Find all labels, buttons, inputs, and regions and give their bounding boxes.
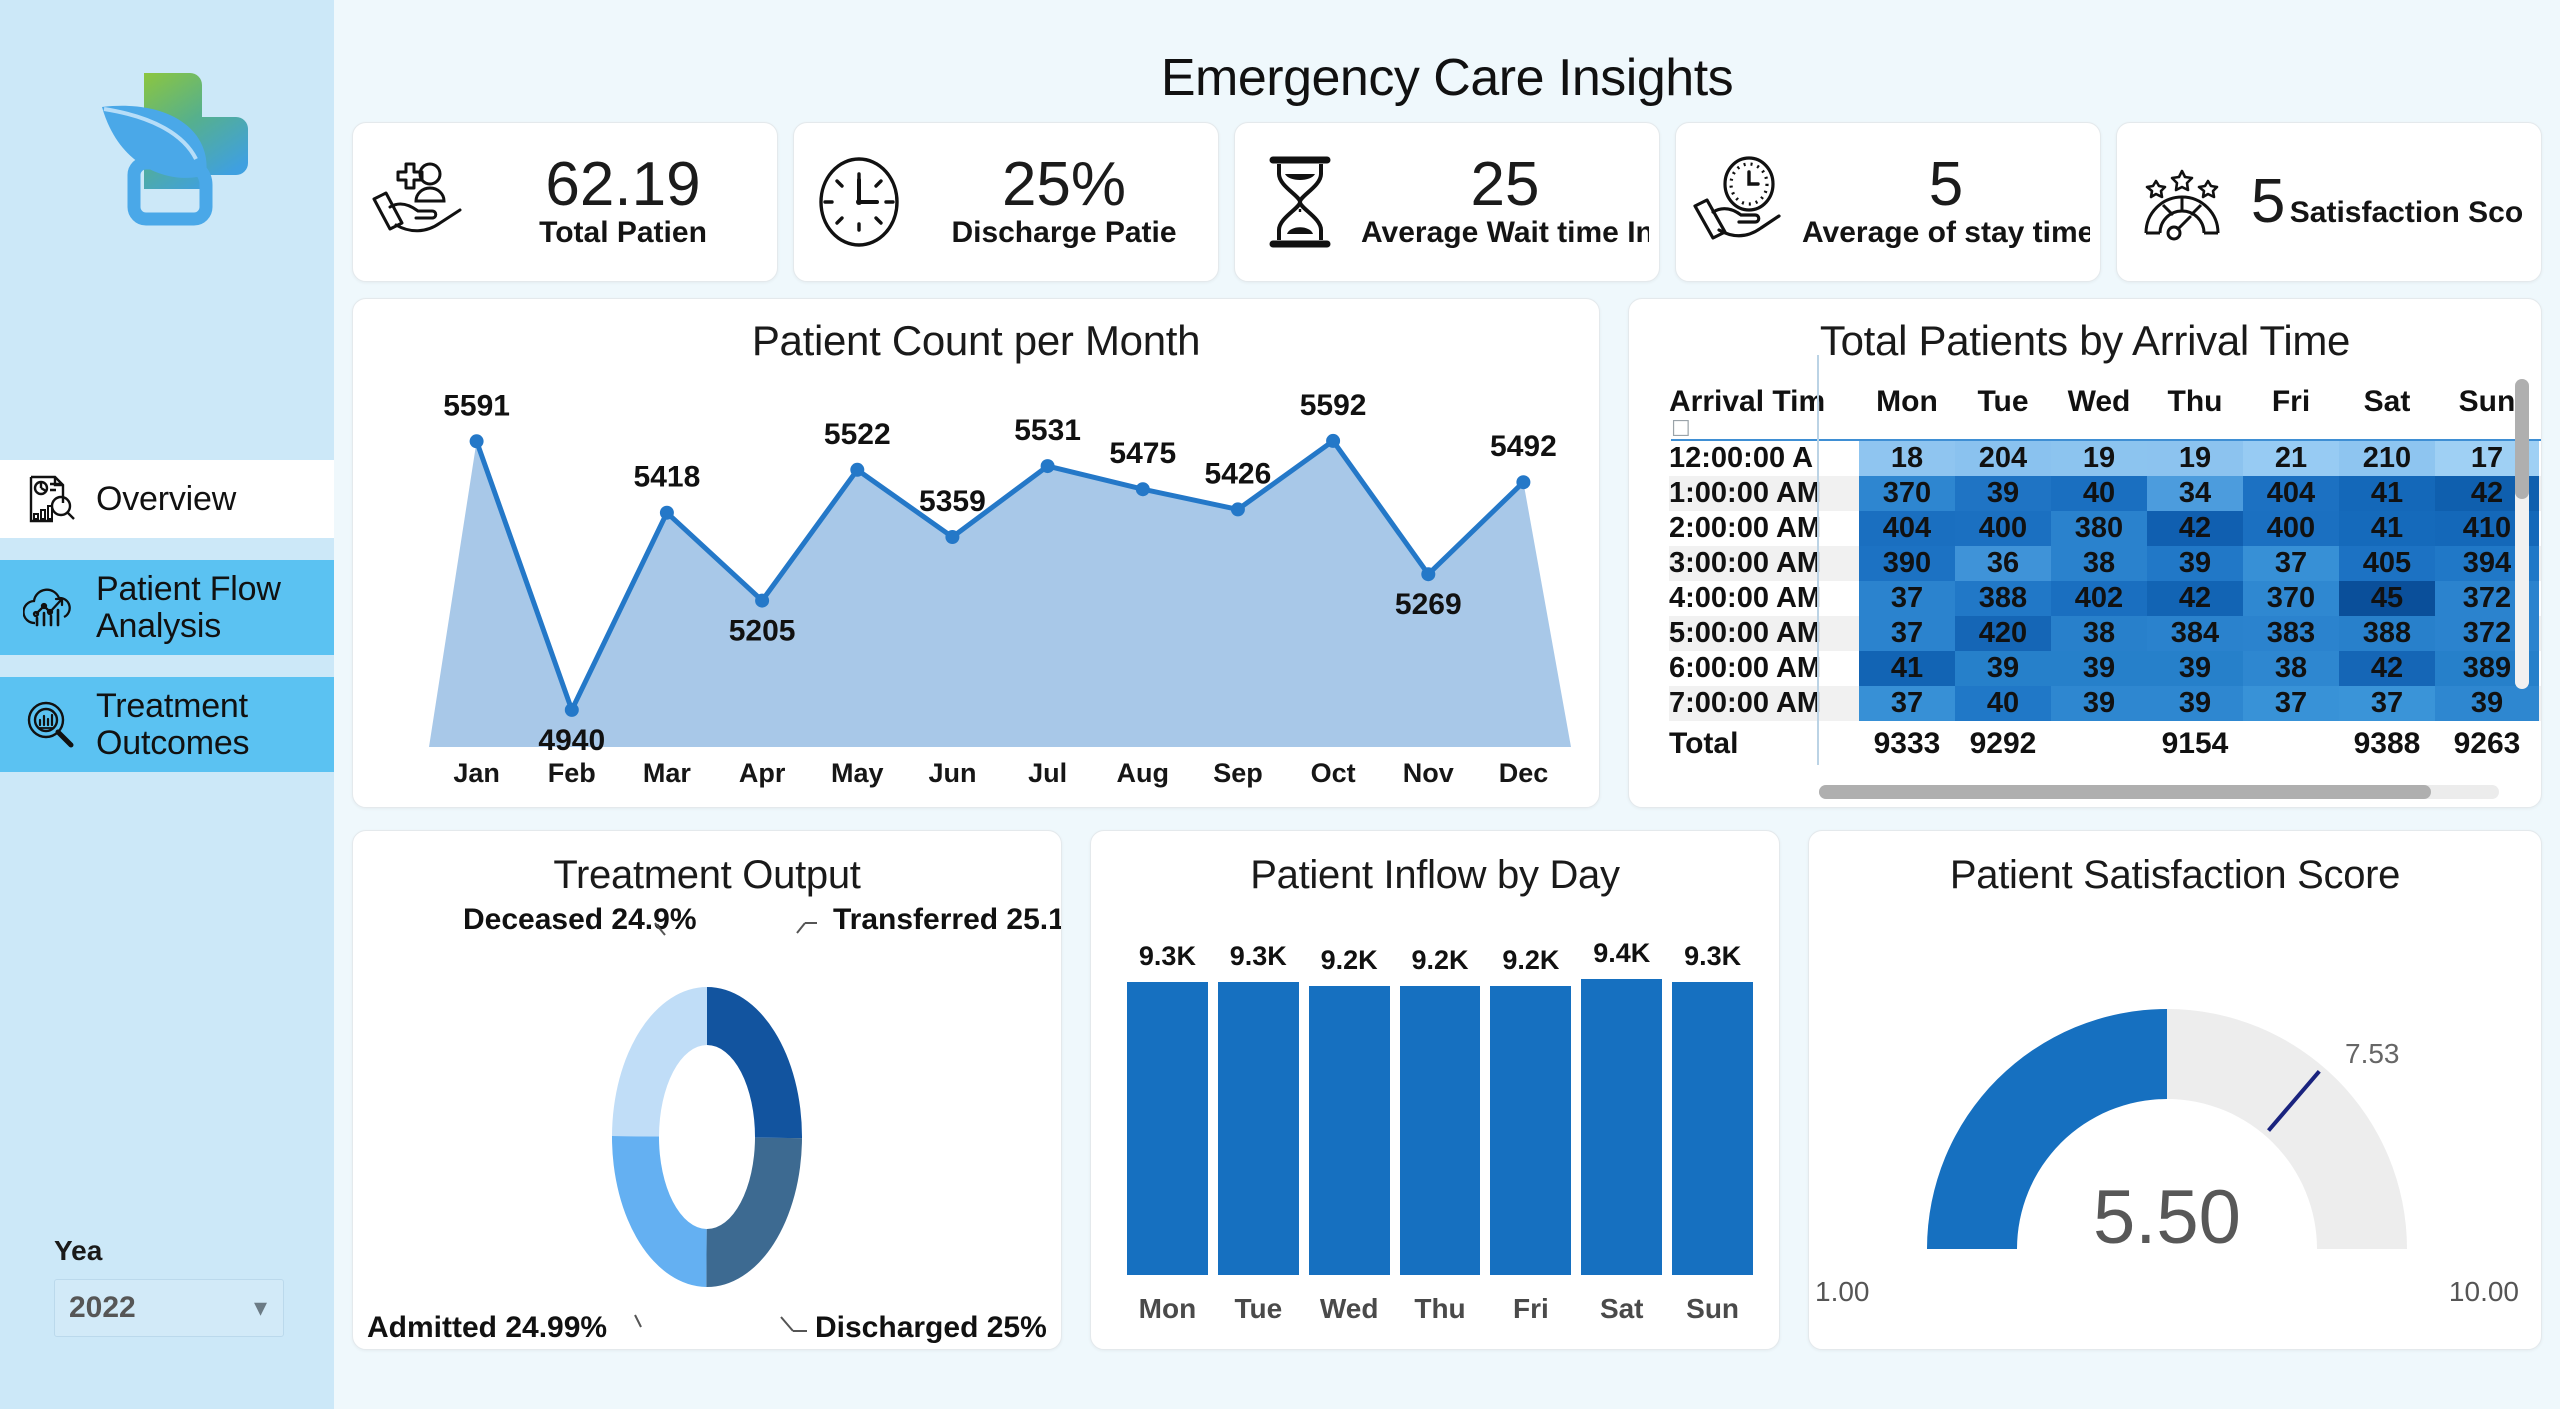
svg-text:4940: 4940 — [538, 724, 605, 757]
matrix-cell[interactable]: 19 — [2051, 441, 2147, 476]
matrix-cell[interactable]: 388 — [2339, 616, 2435, 651]
matrix-cell[interactable]: 390 — [1859, 546, 1955, 581]
sidebar-item-label: Patient Flow Analysis — [96, 571, 281, 644]
medical-cross-leaf-icon — [62, 55, 272, 255]
arrival-time-matrix[interactable]: Arrival Tim ☐MonTueWedThuFriSatSunT 12:0… — [1669, 385, 2541, 807]
matrix-col-header[interactable]: Arrival Tim ☐ — [1669, 385, 1859, 441]
kpi-label: Average of stay time In Hours — [1802, 216, 2090, 249]
matrix-total-row: Total93339292915493889263 — [1669, 721, 2541, 767]
matrix-cell[interactable]: 383 — [2243, 616, 2339, 651]
matrix-cell[interactable]: 40 — [2051, 476, 2147, 511]
svg-text:5531: 5531 — [1014, 414, 1081, 447]
bar[interactable] — [1400, 986, 1481, 1275]
matrix-cell[interactable]: 39 — [2051, 686, 2147, 721]
sidebar-item-patient-flow-analysis[interactable]: Patient Flow Analysis — [0, 560, 334, 655]
x-tick-label: Fri — [1490, 1293, 1571, 1325]
matrix-row-label: 3:00:00 AM — [1669, 547, 1859, 580]
x-tick-label: Sep — [1190, 758, 1285, 789]
matrix-cell[interactable]: 42 — [2147, 581, 2243, 616]
bar[interactable] — [1490, 986, 1571, 1275]
matrix-cell[interactable]: 404 — [1859, 511, 1955, 546]
kpi-value: 5 — [1929, 154, 1963, 219]
matrix-row-label: 7:00:00 AM — [1669, 687, 1859, 720]
sidebar-item-overview[interactable]: Overview — [0, 460, 334, 538]
svg-text:5426: 5426 — [1205, 457, 1272, 490]
patient-inflow-by-day-card: Patient Inflow by Day 9.3K 9.3K 9.2K 9.2… — [1090, 830, 1780, 1350]
matrix-cell[interactable]: 210 — [2339, 441, 2435, 476]
matrix-total-cell: 9154 — [2147, 727, 2243, 761]
svg-text:5269: 5269 — [1395, 588, 1462, 621]
table-row[interactable]: 12:00:00 A1820419192121017 — [1669, 441, 2541, 476]
matrix-cell[interactable]: 38 — [2051, 546, 2147, 581]
matrix-cell[interactable]: 370 — [1859, 476, 1955, 511]
bar-chart[interactable]: 9.3K 9.3K 9.2K 9.2K 9.2K 9.4K 9.3K MonTu… — [1127, 927, 1753, 1337]
gauge-max-label: 10.00 — [2449, 1276, 2519, 1307]
row-charts-bottom: Treatment Output Transferred 25.12%Disch… — [350, 830, 2544, 1350]
svg-text:5592: 5592 — [1300, 389, 1367, 422]
matrix-row-label: 5:00:00 AM — [1669, 617, 1859, 650]
bar-value-label: 9.3K — [1218, 941, 1299, 972]
line-chart-x-axis: JanFebMarAprMayJunJulAugSepOctNovDec — [429, 758, 1571, 789]
main-content: Emergency Care Insights 62.19 Tota — [334, 0, 2560, 1409]
patient-count-per-month-card: Patient Count per Month 5591494054185205… — [352, 298, 1600, 808]
svg-text:5522: 5522 — [824, 418, 891, 451]
matrix-col-header[interactable]: Thu — [2147, 385, 2243, 419]
expand-icon[interactable]: ☐ — [1669, 419, 1859, 441]
matrix-header-row: Arrival Tim ☐MonTueWedThuFriSatSunT — [1669, 385, 2541, 439]
matrix-col-header[interactable]: Wed — [2051, 385, 2147, 419]
matrix-col-header[interactable]: T — [2539, 385, 2542, 419]
matrix-cell[interactable]: 400 — [1955, 511, 2051, 546]
bar-column[interactable]: 9.3K — [1218, 973, 1299, 1275]
bar-value-label: 9.2K — [1400, 945, 1481, 976]
chevron-down-icon[interactable]: ▾ — [254, 1293, 267, 1323]
matrix-total-cell: 9263 — [2435, 727, 2539, 761]
gauge-value: 5.50 — [2093, 1175, 2241, 1260]
x-tick-label: Sun — [1672, 1293, 1753, 1325]
sidebar: Overview Patient Flow Analysis — [0, 0, 334, 1409]
x-tick-label: Dec — [1476, 758, 1571, 789]
matrix-cell[interactable]: 19 — [2147, 441, 2243, 476]
matrix-total-cell: 9333 — [1859, 727, 1955, 761]
x-tick-label: Apr — [715, 758, 810, 789]
matrix-cell[interactable]: 42 — [2339, 651, 2435, 686]
hourglass-icon — [1245, 147, 1355, 257]
card-title: Treatment Output — [353, 831, 1061, 898]
matrix-cell[interactable]: 39 — [2147, 686, 2243, 721]
matrix-cell[interactable]: 204 — [1955, 441, 2051, 476]
svg-text:5475: 5475 — [1109, 437, 1176, 470]
dashboard-root: Overview Patient Flow Analysis — [0, 0, 2560, 1409]
table-row[interactable]: 2:00:00 AM4044003804240041410 — [1669, 511, 2541, 546]
x-tick-label: Sat — [1581, 1293, 1662, 1325]
matrix-horizontal-scrollbar[interactable] — [1819, 785, 2499, 799]
matrix-row-label: 12:00:00 A — [1669, 442, 1859, 475]
year-slicer-value: 2022 — [69, 1291, 136, 1325]
year-slicer-dropdown[interactable]: 2022 ▾ — [54, 1279, 284, 1337]
clock-icon — [804, 147, 914, 257]
matrix-col-header[interactable]: Tue — [1955, 385, 2051, 419]
x-tick-label: Mon — [1127, 1293, 1208, 1325]
bar[interactable] — [1127, 982, 1208, 1275]
matrix-cell[interactable]: 18 — [1859, 441, 1955, 476]
kpi-label: Average Wait time In Min — [1361, 216, 1649, 249]
bar-value-label: 9.4K — [1581, 938, 1662, 969]
matrix-cell[interactable]: 405 — [2339, 546, 2435, 581]
x-tick-label: Aug — [1095, 758, 1190, 789]
sidebar-item-label: Treatment Outcomes — [96, 688, 249, 761]
x-tick-label: Tue — [1218, 1293, 1299, 1325]
x-tick-label: Jun — [905, 758, 1000, 789]
kpi-label: Discharge Patie — [951, 216, 1176, 249]
line-chart-svg: 5591494054185205552253595531547554265592… — [353, 377, 1599, 809]
matrix-cell[interactable]: 384 — [2147, 616, 2243, 651]
card-title: Patient Satisfaction Score — [1809, 831, 2541, 898]
app-logo — [0, 0, 334, 310]
flow-analytics-icon — [22, 580, 78, 636]
svg-text:5418: 5418 — [634, 461, 701, 494]
bar-value-label: 9.3K — [1672, 941, 1753, 972]
matrix-cell[interactable]: 37 — [1859, 616, 1955, 651]
x-tick-label: Thu — [1400, 1293, 1481, 1325]
kpi-card-satisfaction-score[interactable]: 5 Satisfaction Sco — [2116, 122, 2542, 282]
kpi-value: 62.19 — [545, 154, 700, 219]
matrix-cell[interactable]: 38 — [2243, 651, 2339, 686]
matrix-cell[interactable]: 41 — [2339, 476, 2435, 511]
bar-value-label: 9.2K — [1490, 945, 1571, 976]
matrix-cell[interactable]: 37 — [2339, 686, 2435, 721]
bar-column[interactable]: 9.3K — [1127, 973, 1208, 1275]
x-tick-label: Mar — [619, 758, 714, 789]
bar-column[interactable]: 9.2K — [1400, 973, 1481, 1275]
bar[interactable] — [1218, 982, 1299, 1275]
treatment-output-card: Treatment Output Transferred 25.12%Disch… — [352, 830, 1062, 1350]
matrix-row-label: 4:00:00 AM — [1669, 582, 1859, 615]
matrix-body[interactable]: 12:00:00 A1820419192121017 1:00:00 AM370… — [1669, 441, 2541, 721]
matrix-cell[interactable]: 34 — [2147, 476, 2243, 511]
donut-label: Transferred 25.12% — [833, 907, 1061, 936]
matrix-cell[interactable]: 39 — [2147, 546, 2243, 581]
matrix-cell[interactable]: 420 — [1955, 616, 2051, 651]
matrix-cell[interactable]: 400 — [2243, 511, 2339, 546]
sidebar-item-treatment-outcomes[interactable]: Treatment Outcomes — [0, 677, 334, 772]
matrix-cell[interactable]: 39 — [2051, 651, 2147, 686]
matrix-cell[interactable]: 37 — [1859, 581, 1955, 616]
bar[interactable] — [1581, 979, 1662, 1275]
bar-chart-bars: 9.3K 9.3K 9.2K 9.2K 9.2K 9.4K 9.3K — [1127, 973, 1753, 1275]
matrix-cell[interactable]: 380 — [2051, 511, 2147, 546]
kpi-label: Total Patien — [539, 216, 707, 249]
matrix-cell[interactable]: 388 — [1955, 581, 2051, 616]
matrix-cell[interactable]: 36 — [1955, 546, 2051, 581]
matrix-cell[interactable]: 37 — [1859, 686, 1955, 721]
kpi-value: 25% — [1002, 154, 1126, 219]
year-slicer: Yea 2022 ▾ — [54, 1235, 284, 1337]
donut-label: Admitted 24.99% — [367, 1311, 607, 1344]
table-row[interactable]: 7:00:00 AM37403939373739 — [1669, 686, 2541, 721]
matrix-row-label: 6:00:00 AM — [1669, 652, 1859, 685]
satisfaction-gauge[interactable]: 7.535.501.0010.00 — [1809, 909, 2525, 1329]
matrix-cell[interactable]: 39 — [2147, 651, 2243, 686]
x-tick-label: Wed — [1309, 1293, 1390, 1325]
page-title: Emergency Care Insights — [350, 0, 2544, 122]
matrix-cell[interactable]: 37 — [2243, 546, 2339, 581]
card-title: Patient Count per Month — [353, 299, 1599, 365]
matrix-row-label: 2:00:00 AM — [1669, 512, 1859, 545]
matrix-cell[interactable]: 37 — [2243, 686, 2339, 721]
x-tick-label: Oct — [1286, 758, 1381, 789]
year-slicer-label: Yea — [54, 1235, 284, 1267]
matrix-cell[interactable]: 39 — [1955, 476, 2051, 511]
matrix-cell[interactable]: 41 — [2339, 511, 2435, 546]
kpi-value: 25 — [1471, 154, 1540, 219]
bar[interactable] — [1672, 982, 1753, 1275]
matrix-cell[interactable]: 45 — [2339, 581, 2435, 616]
report-search-icon — [22, 471, 78, 527]
matrix-col-header[interactable]: Mon — [1859, 385, 1955, 419]
svg-text:5359: 5359 — [919, 485, 986, 518]
matrix-total-cell: 9292 — [1955, 727, 2051, 761]
table-row[interactable]: 4:00:00 AM373884024237045372 — [1669, 581, 2541, 616]
sidebar-nav: Overview Patient Flow Analysis — [0, 460, 334, 772]
treatment-output-donut[interactable]: Transferred 25.12%Discharged 25%Admitted… — [353, 907, 1061, 1347]
matrix-cell[interactable]: 39 — [2435, 686, 2539, 721]
matrix-cell[interactable]: 370 — [2243, 581, 2339, 616]
matrix-cell[interactable]: 41 — [1859, 651, 1955, 686]
matrix-cell[interactable]: 39 — [1955, 651, 2051, 686]
magnifier-chart-icon — [22, 697, 78, 753]
kpi-label: Satisfaction Sco — [2290, 196, 2523, 229]
matrix-divider — [1817, 355, 1819, 765]
matrix-cell[interactable]: 38 — [2051, 616, 2147, 651]
total-patients-by-arrival-time-card: Total Patients by Arrival Time Arrival T… — [1628, 298, 2542, 808]
kpi-value: 5 — [2251, 171, 2285, 233]
row-charts-middle: Patient Count per Month 5591494054185205… — [350, 298, 2544, 808]
matrix-cell[interactable]: 21 — [2243, 441, 2339, 476]
card-title: Total Patients by Arrival Time — [1629, 299, 2541, 365]
bar-column[interactable]: 9.2K — [1309, 973, 1390, 1275]
table-row[interactable]: 1:00:00 AM3703940344044142 — [1669, 476, 2541, 511]
kpi-row: 62.19 Total Patien 25% Discharge — [350, 122, 2544, 282]
matrix-vertical-scrollbar[interactable] — [2515, 379, 2529, 689]
bar-chart-x-axis: MonTueWedThuFriSatSun — [1127, 1293, 1753, 1325]
svg-text:5591: 5591 — [443, 389, 510, 422]
table-row[interactable]: 5:00:00 AM3742038384383388372 — [1669, 616, 2541, 651]
gauge-stars-icon — [2127, 147, 2237, 257]
matrix-cell[interactable]: 40 — [1955, 686, 2051, 721]
matrix-cell[interactable]: 404 — [2243, 476, 2339, 511]
x-tick-label: Feb — [524, 758, 619, 789]
bar[interactable] — [1309, 986, 1390, 1275]
patient-hand-icon — [363, 147, 473, 257]
matrix-row-label: 1:00:00 AM — [1669, 477, 1859, 510]
matrix-total-cell: 9388 — [2339, 727, 2435, 761]
sidebar-item-label: Overview — [96, 481, 236, 518]
gauge-min-label: 1.00 — [1815, 1276, 1870, 1307]
matrix-total-label: Total — [1669, 727, 1859, 761]
donut-label: Discharged 25% — [815, 1311, 1047, 1344]
bar-column[interactable]: 9.3K — [1672, 973, 1753, 1275]
x-tick-label: Nov — [1381, 758, 1476, 789]
matrix-cell[interactable]: 42 — [2147, 511, 2243, 546]
matrix-cell[interactable]: 402 — [2051, 581, 2147, 616]
matrix-col-header[interactable]: Sat — [2339, 385, 2435, 419]
bar-column[interactable]: 9.2K — [1490, 973, 1571, 1275]
matrix-col-header[interactable]: Fri — [2243, 385, 2339, 419]
line-chart[interactable]: 5591494054185205552253595531547554265592… — [353, 377, 1599, 807]
gauge-target-label: 7.53 — [2345, 1038, 2400, 1069]
svg-text:5205: 5205 — [729, 615, 796, 648]
x-tick-label: Jul — [1000, 758, 1095, 789]
kpi-card-discharge-patients[interactable]: 25% Discharge Patie — [793, 122, 1219, 282]
x-tick-label: May — [810, 758, 905, 789]
x-tick-label: Jan — [429, 758, 524, 789]
bar-value-label: 9.2K — [1309, 945, 1390, 976]
table-row[interactable]: 6:00:00 AM413939393842389 — [1669, 651, 2541, 686]
card-title: Patient Inflow by Day — [1091, 831, 1779, 898]
clock-hand-icon — [1686, 147, 1796, 257]
svg-text:5492: 5492 — [1490, 430, 1557, 463]
kpi-card-total-patients[interactable]: 62.19 Total Patien — [352, 122, 778, 282]
kpi-card-average-stay-time[interactable]: 5 Average of stay time In Hours — [1675, 122, 2101, 282]
bar-value-label: 9.3K — [1127, 941, 1208, 972]
patient-satisfaction-score-card: Patient Satisfaction Score 7.535.501.001… — [1808, 830, 2542, 1350]
bar-column[interactable]: 9.4K — [1581, 973, 1662, 1275]
kpi-card-average-wait-time[interactable]: 25 Average Wait time In Min — [1234, 122, 1660, 282]
table-row[interactable]: 3:00:00 AM39036383937405394 — [1669, 546, 2541, 581]
